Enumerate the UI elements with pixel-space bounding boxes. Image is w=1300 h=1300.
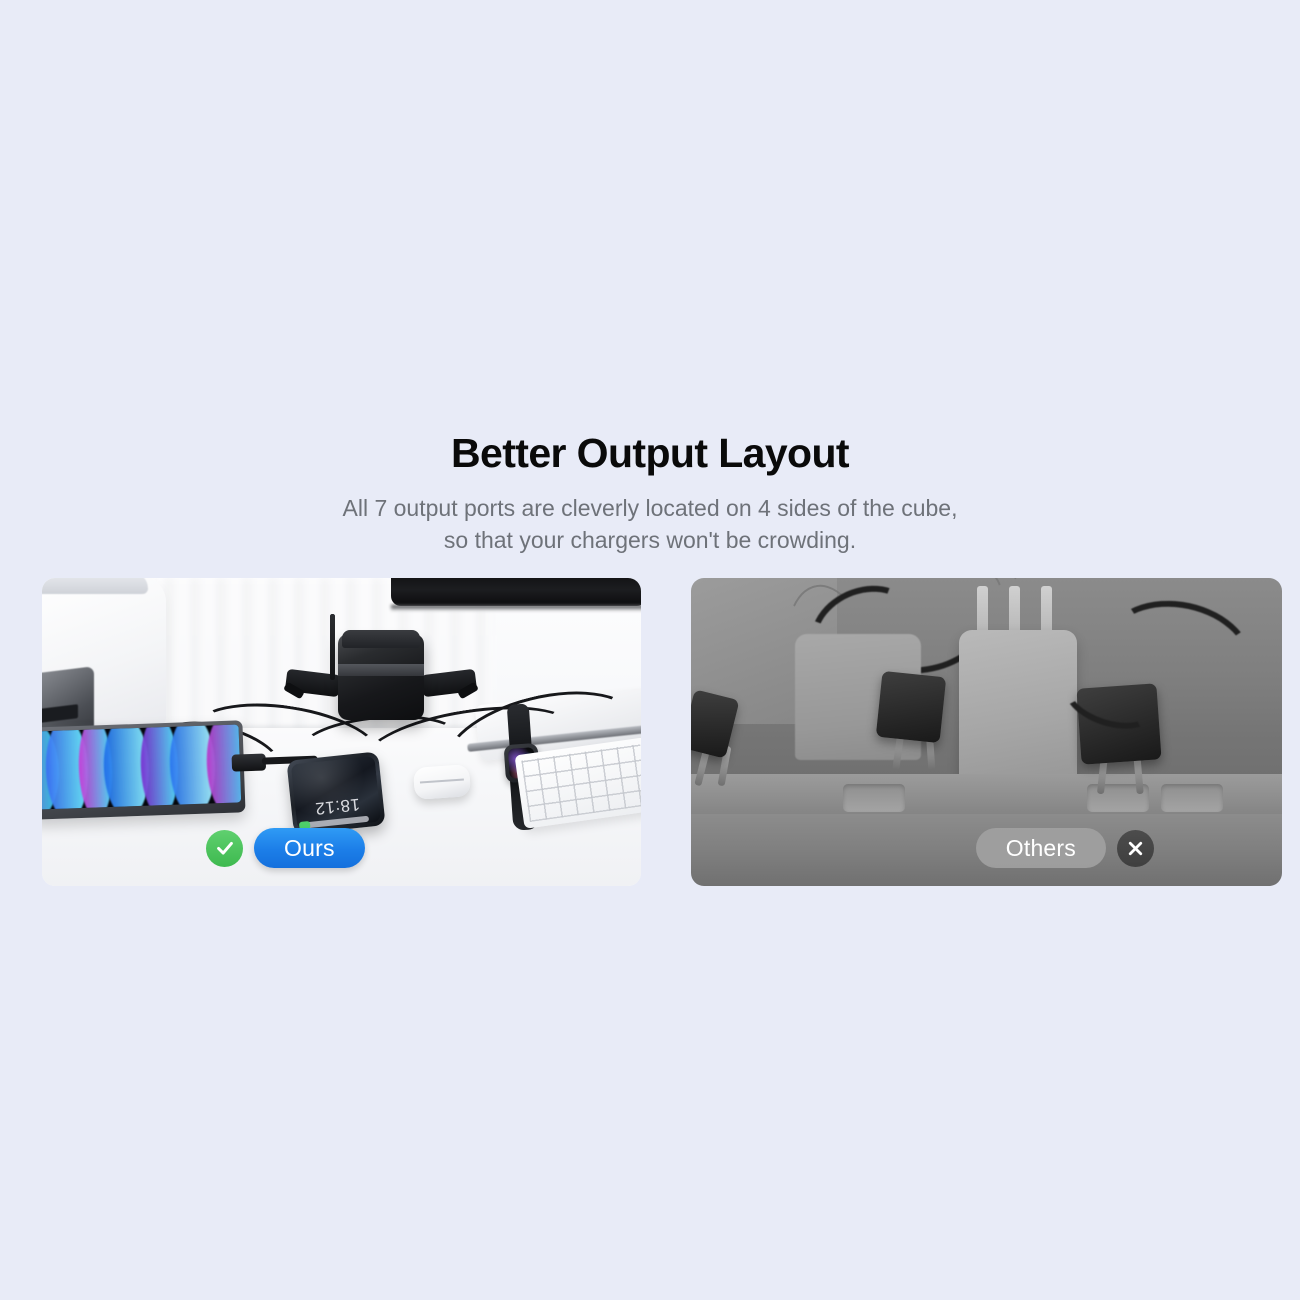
ours-label-pill: Ours <box>254 828 365 868</box>
panel-ours: 18:12 <box>42 578 641 886</box>
check-circle-icon <box>206 830 243 867</box>
tablet-usb-port <box>232 754 267 772</box>
headline-block: Better Output Layout All 7 output ports … <box>0 430 1300 557</box>
smartphone: 18:12 <box>286 751 385 834</box>
keyboard-keys <box>521 744 641 822</box>
power-socket <box>1161 784 1223 812</box>
others-label-pill: Others <box>976 828 1106 868</box>
ours-badge-group: Ours <box>206 828 365 868</box>
page-subtitle: All 7 output ports are cleverly located … <box>0 493 1300 556</box>
earbuds-case <box>413 764 471 800</box>
earbuds-case-seam <box>420 778 464 783</box>
ours-photo-scene: 18:12 <box>42 578 641 886</box>
subtitle-line-2: so that your chargers won't be crowding. <box>444 527 856 553</box>
tablet-screen <box>42 724 241 809</box>
page-title: Better Output Layout <box>0 430 1300 477</box>
comparison-panels: 18:12 <box>42 578 1282 886</box>
panel-others: Others <box>691 578 1282 886</box>
subtitle-line-1: All 7 output ports are cleverly located … <box>343 495 958 521</box>
monitor-shadow <box>391 605 641 611</box>
power-socket <box>843 784 905 812</box>
others-badge-group: Others <box>976 828 1154 868</box>
black-plug <box>876 671 947 743</box>
monitor-bezel <box>391 578 641 606</box>
charging-cube <box>330 620 432 720</box>
device-slot <box>42 704 78 723</box>
black-plug <box>691 689 740 758</box>
appliance-lid <box>42 578 148 594</box>
cube-cable-loop <box>330 614 335 680</box>
tablet-device <box>42 720 246 819</box>
cube-port-band <box>338 664 424 676</box>
promo-page: Better Output Layout All 7 output ports … <box>0 0 1300 1300</box>
others-photo-scene: Others <box>691 578 1282 886</box>
cube-top-face <box>342 630 420 648</box>
x-circle-icon <box>1117 830 1154 867</box>
white-charger-brick <box>959 630 1077 778</box>
